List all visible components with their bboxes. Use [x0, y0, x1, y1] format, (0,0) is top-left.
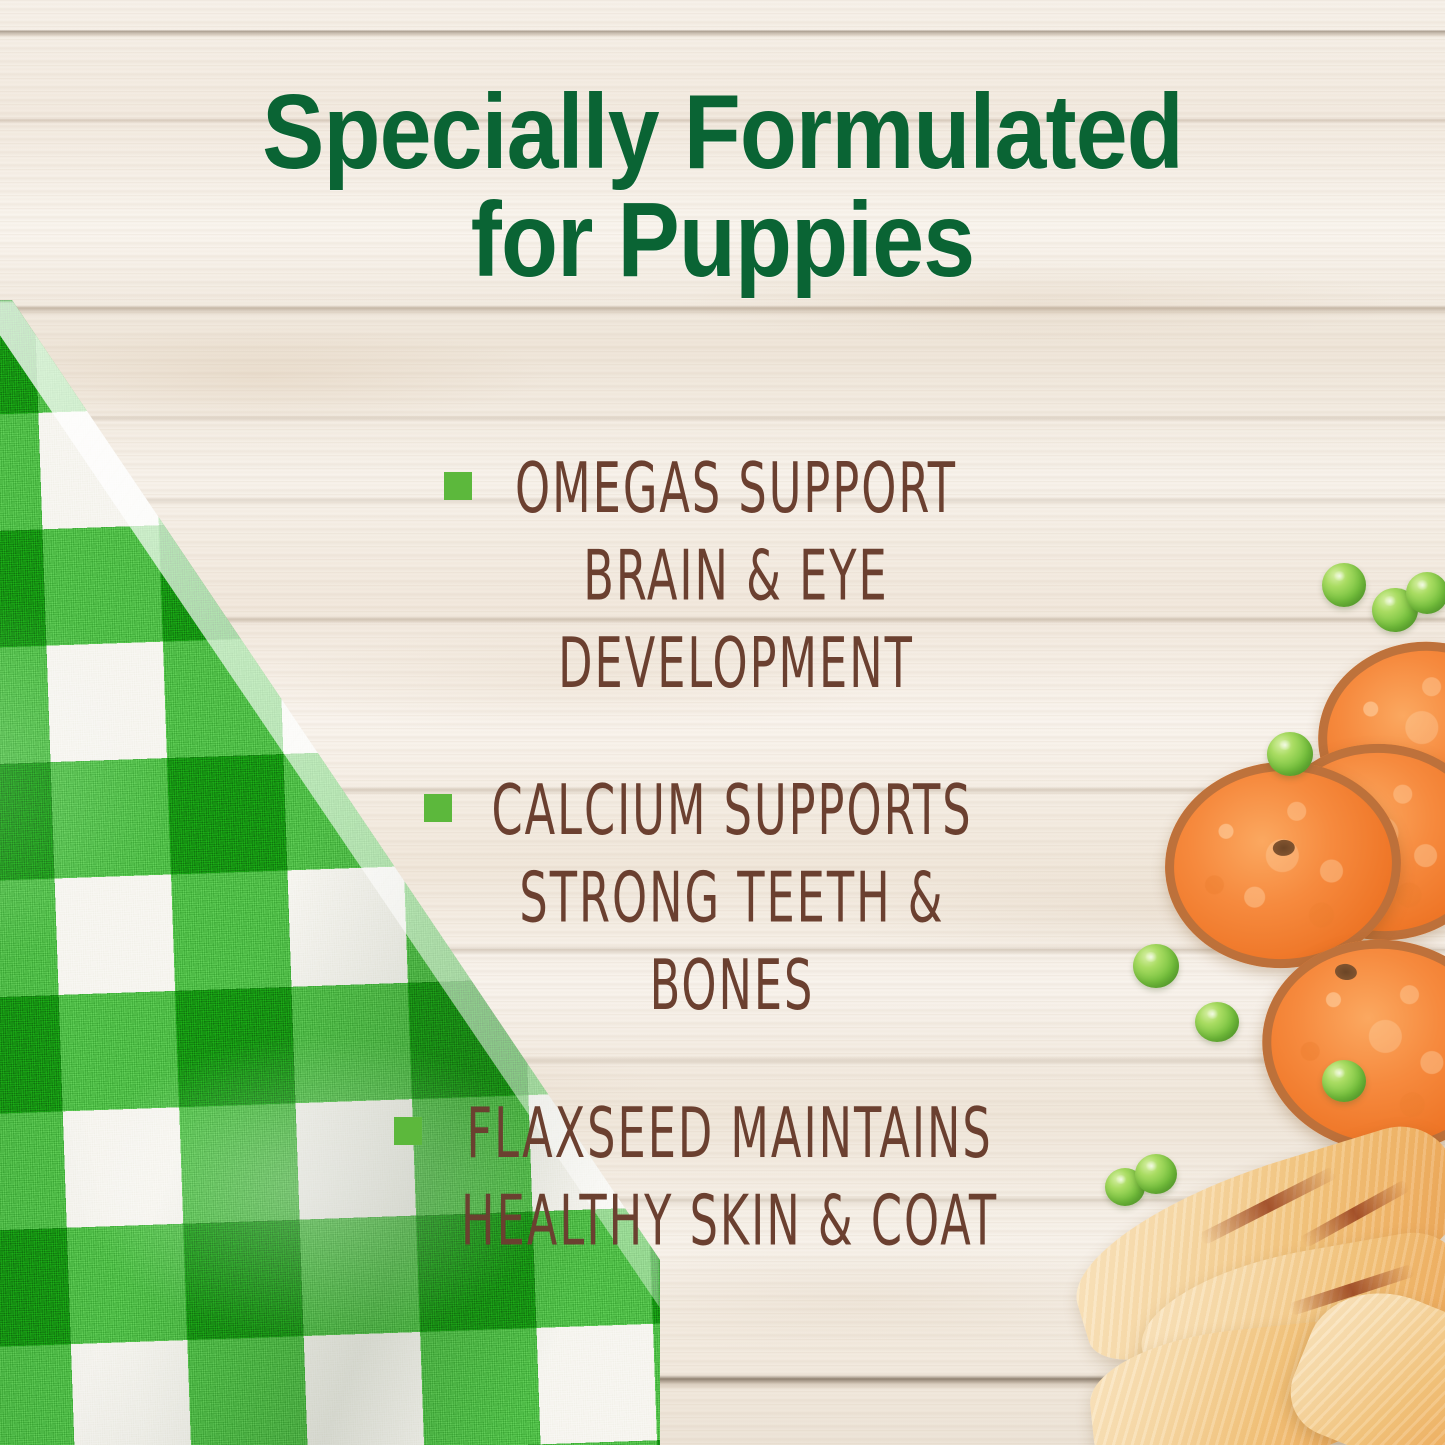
green-pea [1267, 732, 1313, 776]
green-pea [1195, 1002, 1239, 1042]
list-item: CALCIUM SUPPORTS STRONG TEETH & BONES [340, 767, 1100, 1001]
benefit-text-calcium: CALCIUM SUPPORTS STRONG TEETH & BONES [416, 767, 1024, 1029]
benefits-list: OMEGAS SUPPORT BRAIN & EYE DEVELOPMENT C… [340, 445, 1100, 1246]
green-pea [1133, 944, 1179, 988]
page-title: Specially Formulated for Puppies [87, 78, 1359, 294]
benefit-text-flaxseed: FLAXSEED MAINTAINS HEALTHY SKIN & COAT [416, 1090, 1024, 1265]
list-item: OMEGAS SUPPORT BRAIN & EYE DEVELOPMENT [340, 445, 1100, 679]
benefit-text-omegas: OMEGAS SUPPORT BRAIN & EYE DEVELOPMENT [416, 445, 1024, 707]
list-item: FLAXSEED MAINTAINS HEALTHY SKIN & COAT [340, 1090, 1100, 1246]
green-pea [1322, 1060, 1366, 1102]
green-pea [1135, 1154, 1177, 1194]
green-pea [1406, 572, 1445, 614]
promo-image: Specially Formulated for Puppies OMEGAS … [0, 0, 1445, 1445]
green-pea [1322, 563, 1366, 607]
